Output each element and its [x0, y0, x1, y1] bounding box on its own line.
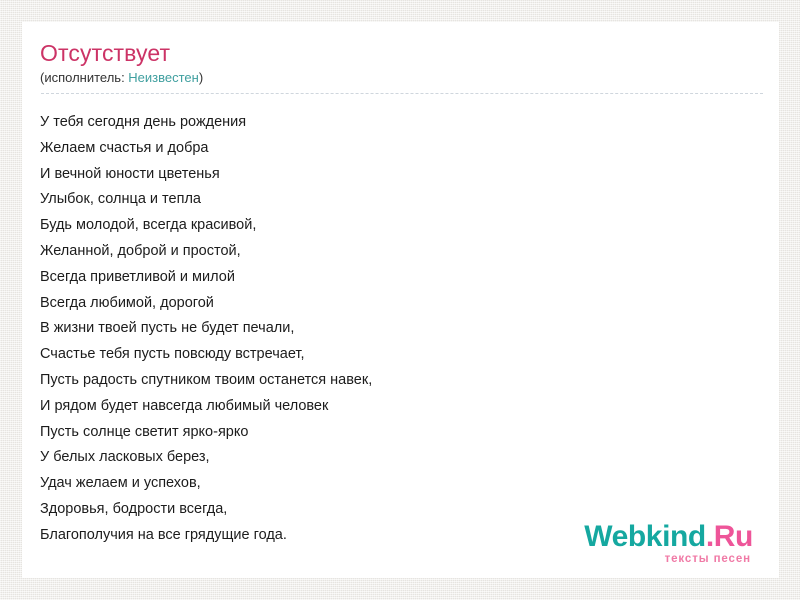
lyrics-line: Улыбок, солнца и тепла [40, 187, 763, 213]
lyrics-text: У тебя сегодня день рожденияЖелаем счаст… [40, 110, 763, 549]
site-logo: Webkind.Ru тексты песен [584, 522, 753, 566]
lyrics-line: Здоровья, бодрости всегда, [40, 497, 763, 523]
lyrics-line: У тебя сегодня день рождения [40, 110, 763, 136]
artist-link[interactable]: Неизвестен [128, 70, 199, 85]
logo-name-main: Webkind [584, 520, 706, 553]
page-background: Отсутствует (исполнитель: Неизвестен) У … [0, 0, 800, 600]
song-header: Отсутствует (исполнитель: Неизвестен) [40, 40, 763, 102]
lyrics-line: В жизни твоей пусть не будет печали, [40, 316, 763, 342]
lyrics-line: Всегда любимой, дорогой [40, 291, 763, 317]
lyrics-line: Будь молодой, всегда красивой, [40, 213, 763, 239]
page-title: Отсутствует [40, 40, 763, 66]
lyrics-line: Пусть солнце светит ярко-ярко [40, 420, 763, 446]
lyrics-line: У белых ласковых берез, [40, 445, 763, 471]
logo-tagline: тексты песен [584, 553, 751, 566]
logo-wordmark: Webkind.Ru [584, 522, 753, 552]
artist-line: (исполнитель: Неизвестен) [40, 66, 763, 86]
lyrics-line: Удач желаем и успехов, [40, 471, 763, 497]
lyrics-line: Желанной, доброй и простой, [40, 239, 763, 265]
lyrics-line: Всегда приветливой и милой [40, 265, 763, 291]
content-sheet: Отсутствует (исполнитель: Неизвестен) У … [22, 22, 779, 578]
artist-suffix-label: ) [199, 70, 203, 85]
lyrics-line: Желаем счастья и добра [40, 136, 763, 162]
artist-prefix-label: (исполнитель: [40, 70, 128, 85]
logo-name-tld: .Ru [706, 520, 753, 553]
lyrics-line: И вечной юности цветенья [40, 162, 763, 188]
header-divider [41, 93, 763, 94]
lyrics-line: И рядом будет навсегда любимый человек [40, 394, 763, 420]
lyrics-line: Пусть радость спутником твоим останется … [40, 368, 763, 394]
lyrics-line: Счастье тебя пусть повсюду встречает, [40, 342, 763, 368]
